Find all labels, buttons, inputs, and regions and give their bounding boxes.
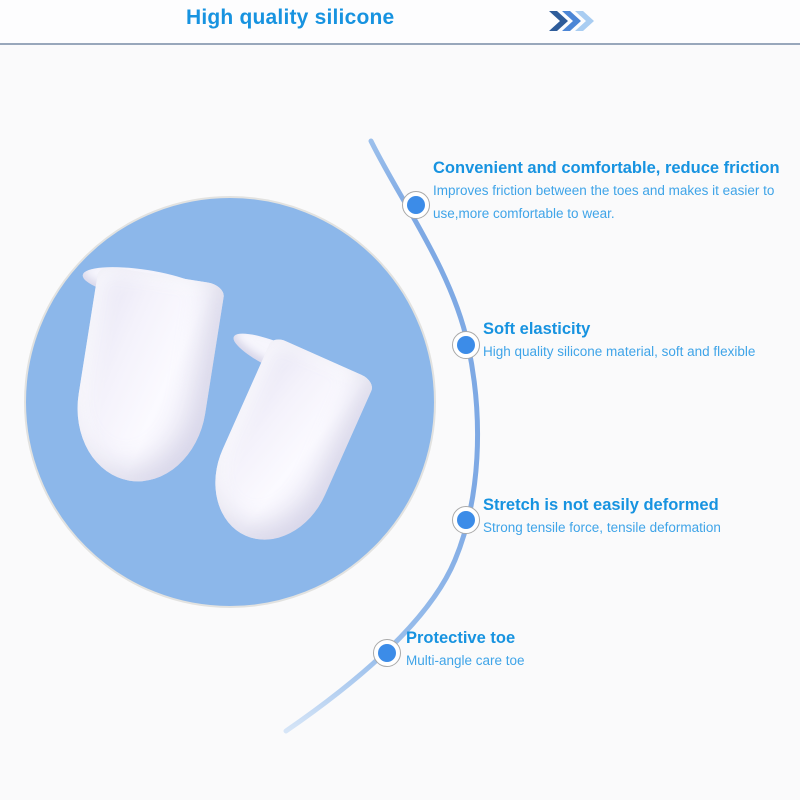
feature-item-soft-elasticity: Soft elasticity High quality silicone ma… [483, 319, 800, 363]
feature-heading: Protective toe [406, 628, 736, 649]
feature-item-convenient-comfortable: Convenient and comfortable, reduce frict… [433, 158, 793, 225]
feature-heading: Soft elasticity [483, 319, 800, 340]
toe-cap-left [67, 265, 226, 490]
feature-body: Multi-angle care toe [406, 649, 736, 672]
feature-marker-dot [452, 506, 480, 534]
feature-item-protective-toe: Protective toe Multi-angle care toe [406, 628, 736, 672]
feature-marker-dot [452, 331, 480, 359]
feature-body: Strong tensile force, tensile deformatio… [483, 516, 800, 539]
feature-marker-dot [402, 191, 430, 219]
product-image-circle [24, 196, 436, 608]
feature-heading: Convenient and comfortable, reduce frict… [433, 158, 793, 179]
feature-marker-dot [373, 639, 401, 667]
feature-body: High quality silicone material, soft and… [483, 340, 800, 363]
feature-item-stretch-not-deformed: Stretch is not easily deformed Strong te… [483, 495, 800, 539]
feature-body: Improves friction between the toes and m… [433, 179, 793, 225]
feature-heading: Stretch is not easily deformed [483, 495, 800, 516]
header-divider [0, 43, 800, 45]
header-band: High quality silicone [0, 0, 800, 44]
toe-cap-right [194, 336, 375, 559]
page-title: High quality silicone [186, 6, 394, 30]
double-chevron-right-icon [548, 9, 596, 33]
